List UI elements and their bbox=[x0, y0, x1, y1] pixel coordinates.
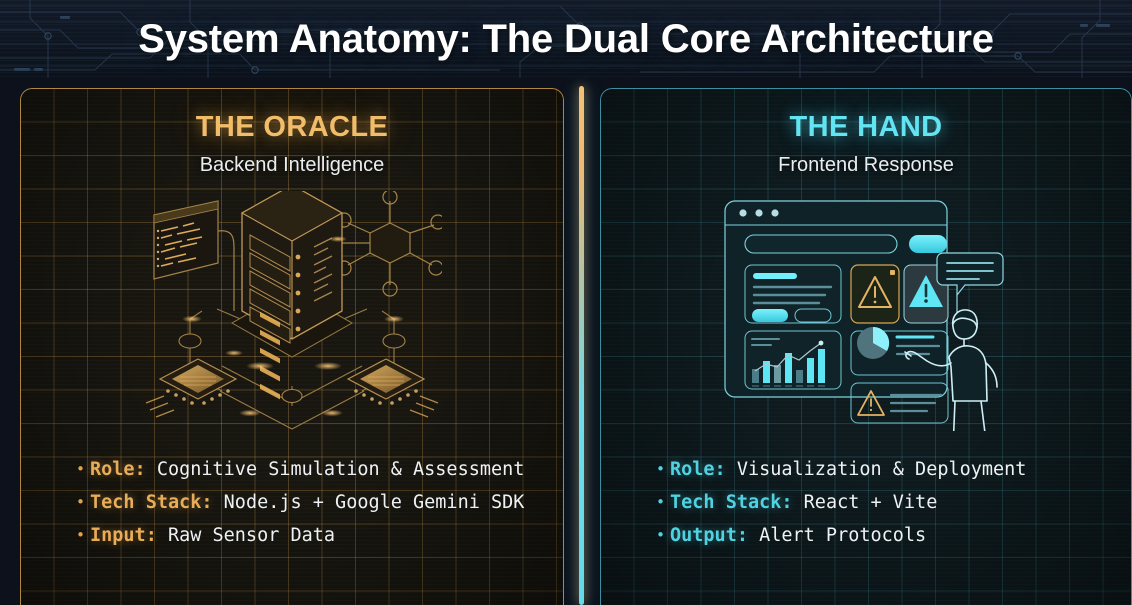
page-title: System Anatomy: The Dual Core Architectu… bbox=[0, 0, 1132, 78]
isometric-server-icon bbox=[142, 191, 442, 431]
bullet-label: Tech Stack: bbox=[90, 492, 213, 513]
bullet-value: Alert Protocols bbox=[759, 525, 926, 546]
dashboard-alert-icon bbox=[721, 191, 1011, 431]
bullet-dot-icon: • bbox=[76, 519, 90, 552]
panel-oracle[interactable]: THE ORACLE Backend Intelligence bbox=[20, 88, 564, 605]
infographic-stage: System Anatomy: The Dual Core Architectu… bbox=[0, 0, 1132, 605]
list-item: •Input: Raw Sensor Data bbox=[76, 519, 564, 552]
bullet-value: Raw Sensor Data bbox=[168, 525, 335, 546]
bullet-label: Role: bbox=[670, 459, 726, 480]
bullet-value: Node.js + Google Gemini SDK bbox=[224, 492, 525, 513]
list-item: •Tech Stack: React + Vite bbox=[656, 486, 1132, 519]
bullet-dot-icon: • bbox=[656, 453, 670, 486]
oracle-bullet-list: •Role: Cognitive Simulation & Assessment… bbox=[20, 453, 564, 552]
bullet-label: Output: bbox=[670, 525, 748, 546]
bullet-value: Visualization & Deployment bbox=[737, 459, 1027, 480]
list-item: •Role: Cognitive Simulation & Assessment bbox=[76, 453, 564, 486]
bullet-label: Tech Stack: bbox=[670, 492, 793, 513]
bullet-dot-icon: • bbox=[656, 486, 670, 519]
bullet-label: Role: bbox=[90, 459, 146, 480]
oracle-illustration bbox=[20, 191, 564, 439]
list-item: •Output: Alert Protocols bbox=[656, 519, 1132, 552]
primary-pill-button bbox=[909, 235, 947, 253]
header-banner: System Anatomy: The Dual Core Architectu… bbox=[0, 0, 1132, 78]
list-item: •Role: Visualization & Deployment bbox=[656, 453, 1132, 486]
bullet-dot-icon: • bbox=[76, 486, 90, 519]
search-bar-shape bbox=[745, 235, 897, 253]
bullet-dot-icon: • bbox=[76, 453, 90, 486]
panel-oracle-subtitle: Backend Intelligence bbox=[20, 154, 564, 177]
panel-hand-title: THE HAND bbox=[600, 112, 1132, 144]
bullet-dot-icon: • bbox=[656, 519, 670, 552]
bullet-label: Input: bbox=[90, 525, 157, 546]
panel-hand-subtitle: Frontend Response bbox=[600, 154, 1132, 177]
list-item: •Tech Stack: Node.js + Google Gemini SDK bbox=[76, 486, 564, 519]
center-divider bbox=[579, 86, 584, 605]
bullet-value: Cognitive Simulation & Assessment bbox=[157, 459, 525, 480]
panel-hand[interactable]: THE HAND Frontend Response bbox=[600, 88, 1132, 605]
hand-bullet-list: •Role: Visualization & Deployment •Tech … bbox=[600, 453, 1132, 552]
hand-illustration bbox=[600, 191, 1132, 439]
bullet-value: React + Vite bbox=[804, 492, 938, 513]
panel-oracle-title: THE ORACLE bbox=[20, 112, 564, 144]
window-dots-icon bbox=[739, 209, 778, 216]
pie-chart-shape bbox=[857, 327, 889, 359]
